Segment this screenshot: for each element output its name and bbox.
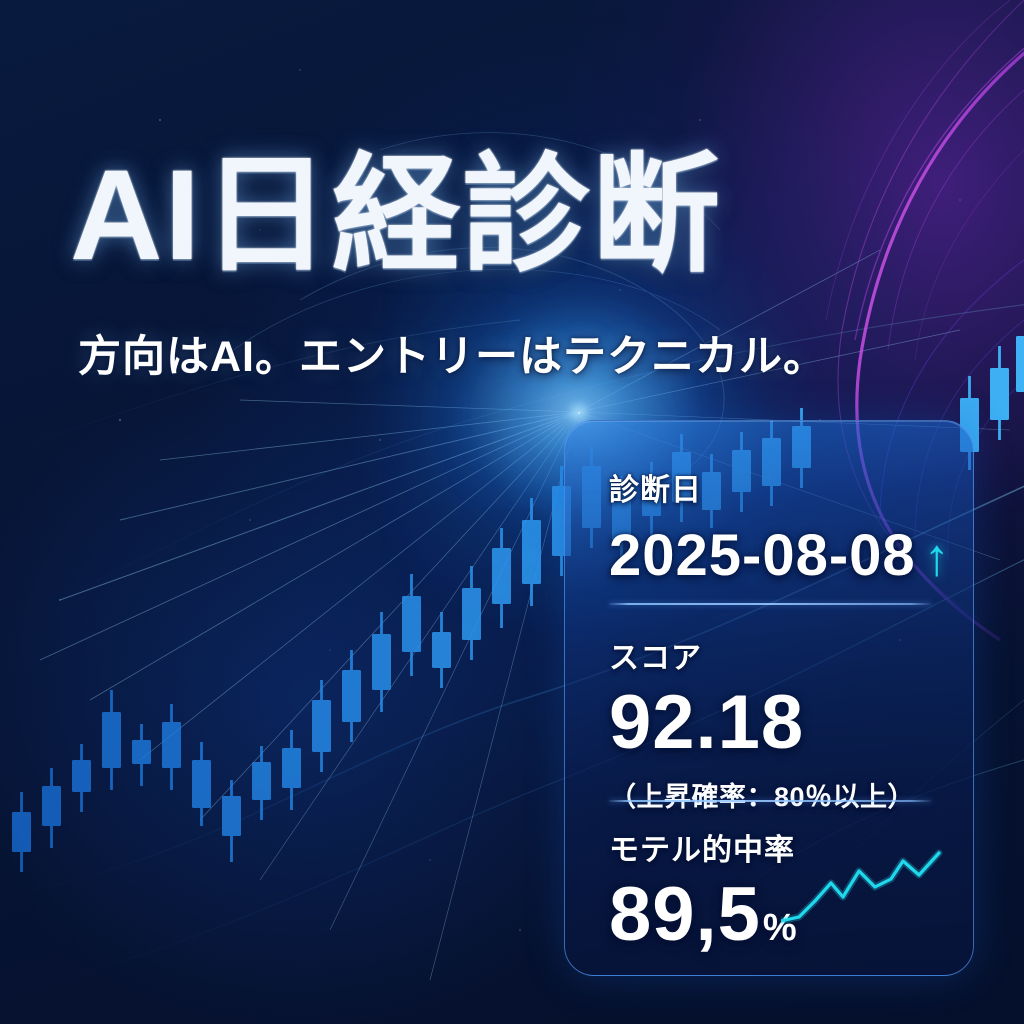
date-value-row: 2025-08-08↑ (609, 527, 933, 585)
date-value: 2025-08-08 (609, 523, 916, 588)
divider-1 (609, 603, 931, 605)
date-block: 診断日 2025-08-08↑ (609, 465, 933, 585)
poster-canvas: AI日経診断 方向はAI。エントリーはテクニカル。 診断日 2025-08-08… (0, 0, 1024, 1024)
page-title: AI日経診断 (70, 152, 722, 280)
date-label: 診断日 (609, 465, 933, 509)
page-subtitle: 方向はAI。エントリーはテクニカル。 (78, 336, 827, 379)
light-burst (578, 412, 580, 414)
accuracy-value: 89,5 (609, 872, 761, 957)
diagnosis-card: 診断日 2025-08-08↑ スコア 92.18 （上昇確率：80％以上） モ… (564, 420, 974, 976)
score-block: スコア 92.18 （上昇確率：80％以上） (609, 633, 933, 814)
trend-up-icon: ↑ (924, 529, 951, 587)
score-note: （上昇確率：80％以上） (609, 775, 933, 814)
score-label: スコア (609, 633, 933, 677)
accuracy-sparkline (781, 849, 951, 927)
divider-2 (609, 800, 931, 802)
score-value: 92.18 (609, 685, 933, 761)
